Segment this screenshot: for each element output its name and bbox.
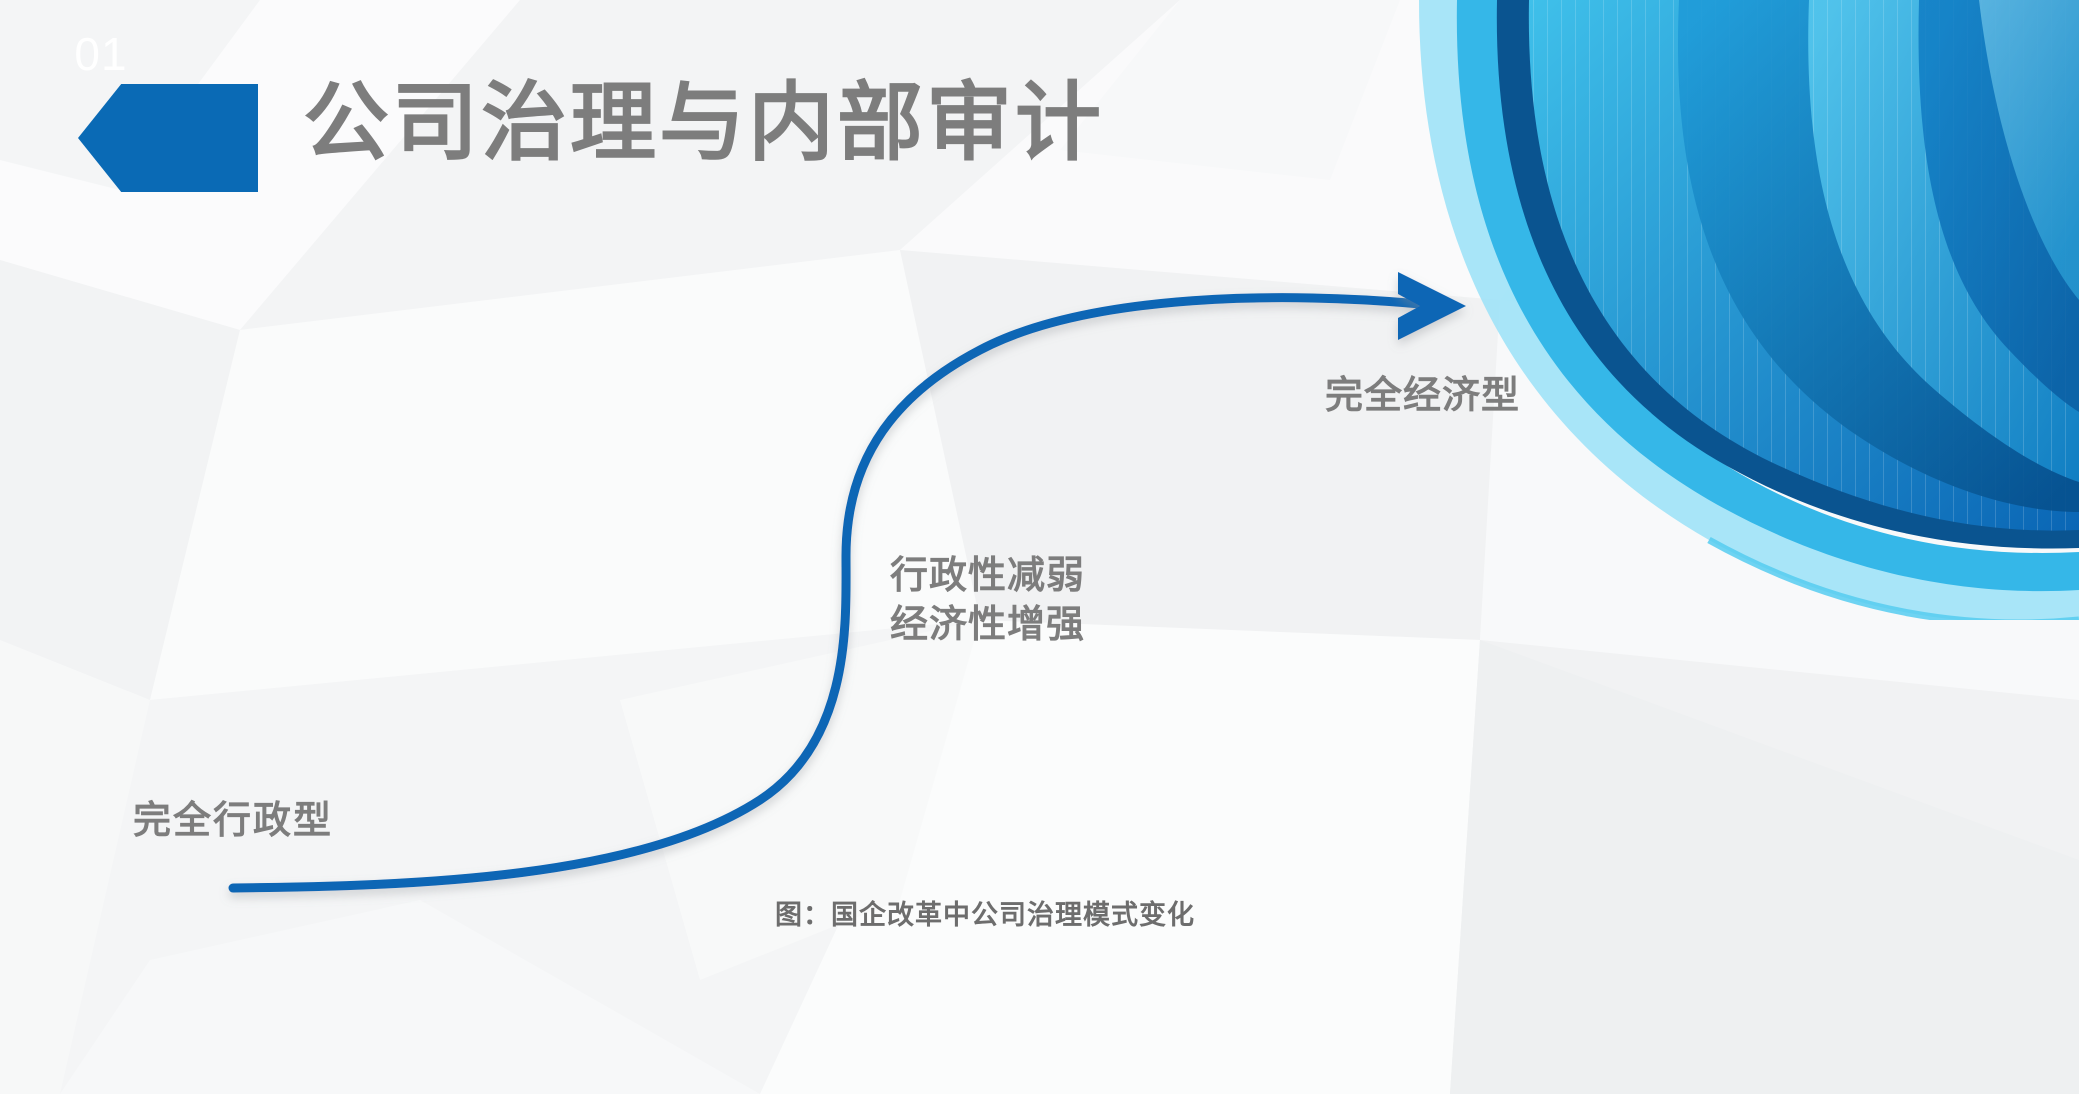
annotation-middle-line2: 经济性增强: [890, 601, 1085, 650]
trend-curve: [233, 298, 1420, 888]
annotation-middle-line1: 行政性减弱: [890, 552, 1085, 601]
annotation-end: 完全经济型: [1325, 372, 1520, 421]
annotation-middle: 行政性减弱 经济性增强: [890, 552, 1085, 649]
figure-caption: 图：国企改革中公司治理模式变化: [775, 893, 1195, 932]
slide-header: 01 公司治理与内部审计: [0, 0, 2079, 250]
page-title: 公司治理与内部审计: [303, 72, 1104, 175]
annotation-start: 完全行政型: [133, 797, 333, 846]
slide-canvas: 01 公司治理与内部审计 完全行政型 行政性减弱 经济性增强 完全经济型 图：国…: [0, 0, 2079, 1094]
section-number-label: 01: [0, 0, 180, 108]
